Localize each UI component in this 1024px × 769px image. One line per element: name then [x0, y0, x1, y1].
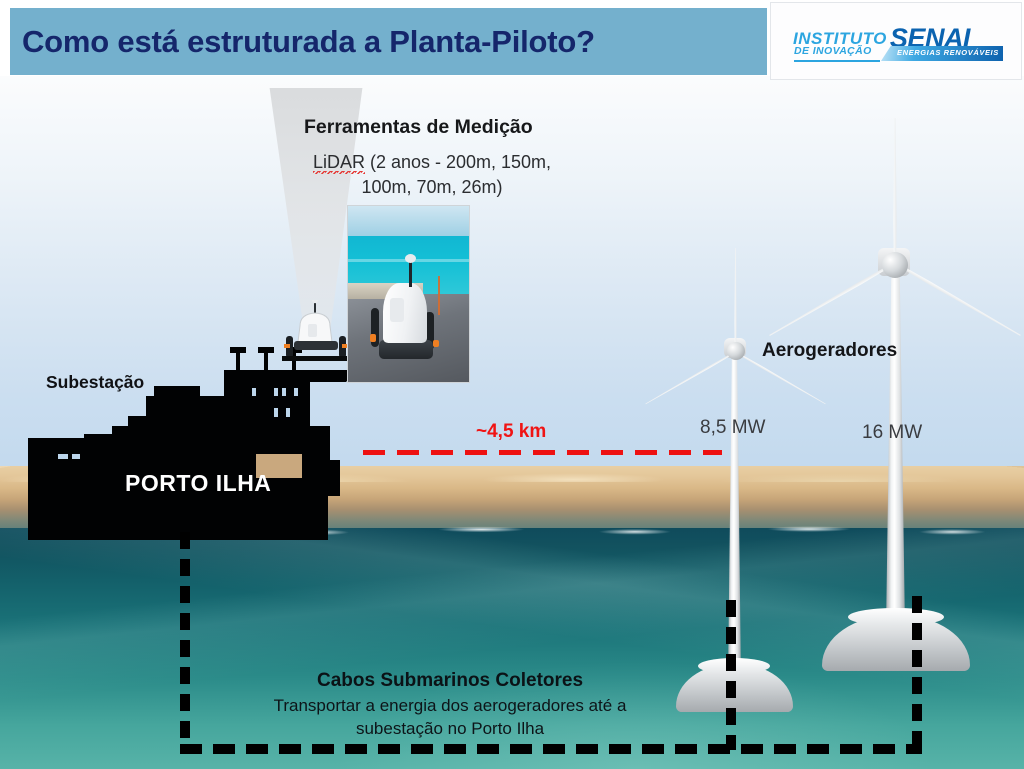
- senai-logo-panel: INSTITUTOSENAI DE INOVAÇÃO ENERGIAS RENO…: [770, 2, 1022, 80]
- lidar-term: LiDAR: [313, 152, 365, 174]
- photo-orange-marker-right: [433, 340, 439, 347]
- turbine-a-capacity-label: 8,5 MW: [700, 417, 765, 439]
- turbine-b-foundation-top: [848, 608, 944, 626]
- port-name-label: PORTO ILHA: [125, 470, 271, 497]
- turbine-b-tower: [886, 270, 905, 630]
- photo-sky: [348, 206, 469, 236]
- turbine-b-capacity-label: 16 MW: [862, 422, 922, 444]
- lidar-photo-inset: [347, 205, 470, 383]
- cables-description: Transportar a energia dos aerogeradores …: [0, 694, 900, 740]
- logo-subtitle-text: DE INOVAÇÃO: [794, 45, 872, 57]
- slide-canvas: Como está estruturada a Planta-Piloto? I…: [0, 0, 1024, 769]
- turbines-group-label: Aerogeradores: [762, 340, 897, 362]
- page-title: Como está estruturada a Planta-Piloto?: [22, 24, 595, 60]
- submarine-cable-seabed-run: [180, 744, 922, 754]
- submarine-cable-turbine-b-riser: [912, 596, 922, 750]
- measurement-tools-title: Ferramentas de Medição: [304, 116, 533, 139]
- turbine-a-blade-3: [643, 348, 738, 408]
- turbine-b-blade-1: [888, 118, 902, 263]
- cables-description-line-1: Transportar a energia dos aerogeradores …: [274, 696, 627, 715]
- substation-label: Subestação: [46, 372, 144, 393]
- logo-underline: [794, 60, 880, 62]
- photo-lidar-mast: [409, 259, 412, 287]
- distance-label: ~4,5 km: [476, 421, 546, 443]
- lidar-detail: (2 anos - 200m, 150m, 100m, 70m, 26m): [361, 152, 551, 197]
- turbine-b-hub: [882, 252, 908, 278]
- cables-description-line-2: subestação no Porto Ilha: [356, 719, 544, 738]
- wind-turbine-16mw: [790, 110, 1024, 700]
- turbine-a-blade-1: [731, 248, 740, 352]
- turbine-b-blade-2: [892, 257, 1024, 342]
- photo-railing: [438, 276, 465, 315]
- substation-silhouette: [28, 330, 378, 545]
- photo-lidar-window: [390, 298, 403, 323]
- turbine-a-hub: [727, 342, 745, 360]
- cables-title: Cabos Submarinos Coletores: [0, 670, 900, 692]
- distance-dashed-line: [363, 450, 722, 455]
- measurement-tools-description: LiDAR (2 anos - 200m, 150m, 100m, 70m, 2…: [286, 150, 578, 200]
- logo-ribbon-text: ENERGIAS RENOVÁVEIS: [897, 48, 999, 57]
- photo-orange-marker-left: [370, 334, 376, 341]
- senai-logo: INSTITUTOSENAI DE INOVAÇÃO ENERGIAS RENO…: [793, 23, 1003, 67]
- photo-lidar-sensor-top: [405, 254, 416, 263]
